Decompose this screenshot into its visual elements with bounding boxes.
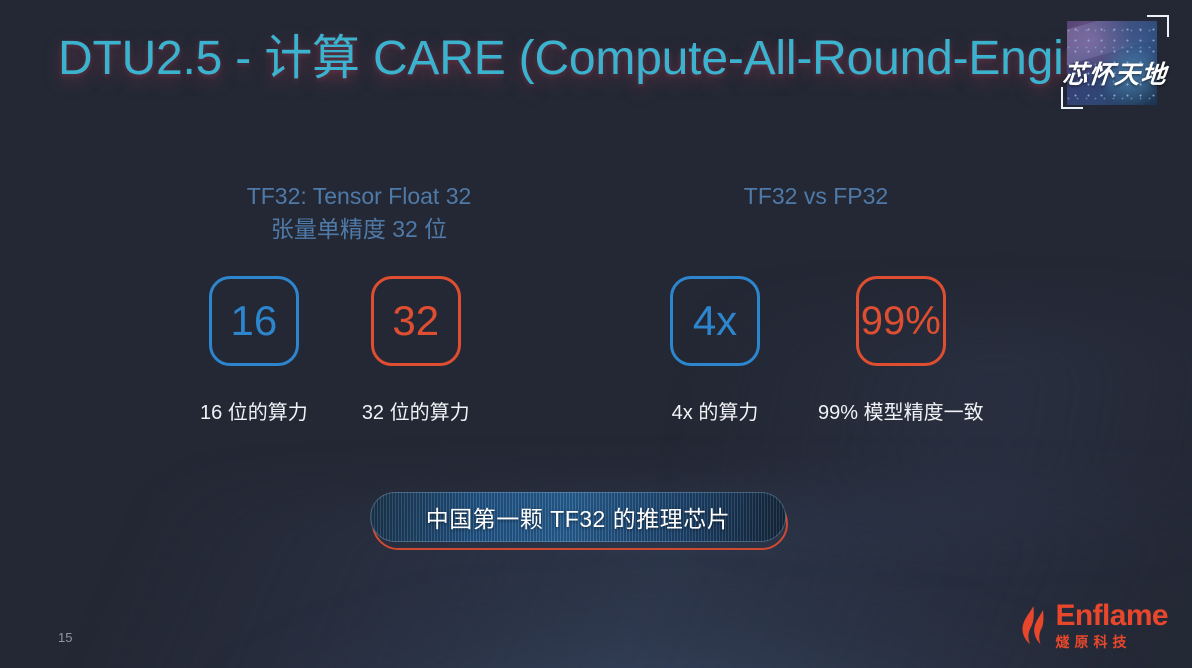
column-heading-right-line1: TF32 vs FP32 [640, 180, 992, 213]
column-heading-right: TF32 vs FP32 [640, 180, 992, 213]
metric-label-4x: 4x 的算力 [672, 396, 759, 425]
metric-box-99: 99% [856, 276, 946, 366]
metric-card-4x: 4x 4x 的算力 [670, 276, 760, 425]
column-heading-left-line2: 张量单精度 32 位 [184, 213, 534, 246]
badge-corner-top-right-icon [1147, 15, 1169, 37]
callout-pill: 中国第一颗 TF32 的推理芯片 [370, 492, 786, 542]
metric-box-16: 16 [209, 276, 299, 366]
callout-banner: 中国第一颗 TF32 的推理芯片 [370, 492, 788, 550]
metric-card-16: 16 16 位的算力 [200, 276, 308, 425]
brand-badge: 芯怀天地 [1057, 11, 1181, 115]
metric-label-99: 99% 模型精度一致 [818, 396, 984, 425]
page-title: DTU2.5 - 计算 CARE (Compute-All-Round-Engi… [58, 18, 1132, 88]
page-number: 15 [58, 630, 72, 645]
metric-group-left: 16 16 位的算力 32 32 位的算力 [200, 276, 470, 425]
badge-label: 芯怀天地 [1061, 55, 1178, 91]
metric-box-32: 32 [371, 276, 461, 366]
footer-logo-wordmark: Enflame 燧原科技 [1055, 601, 1168, 652]
metric-card-99: 99% 99% 模型精度一致 [818, 276, 984, 425]
metric-value-4x: 4x [693, 300, 737, 342]
metric-group-right: 4x 4x 的算力 99% 99% 模型精度一致 [670, 276, 984, 425]
footer-logo: Enflame 燧原科技 [1020, 601, 1168, 652]
footer-logo-name-cn: 燧原科技 [1055, 632, 1131, 652]
callout-text: 中国第一颗 TF32 的推理芯片 [426, 500, 730, 534]
flame-icon [1020, 605, 1050, 647]
footer-logo-name-en: Enflame [1055, 601, 1168, 630]
metric-value-99: 99% [861, 301, 941, 341]
metric-label-32: 32 位的算力 [362, 396, 470, 425]
background-glow-center [215, 588, 1145, 668]
metric-value-32: 32 [392, 300, 439, 342]
column-heading-left-line1: TF32: Tensor Float 32 [184, 180, 534, 213]
metric-box-4x: 4x [670, 276, 760, 366]
metric-label-16: 16 位的算力 [200, 396, 308, 425]
column-heading-left: TF32: Tensor Float 32 张量单精度 32 位 [184, 180, 534, 247]
metric-card-32: 32 32 位的算力 [362, 276, 470, 425]
slide-canvas: DTU2.5 - 计算 CARE (Compute-All-Round-Engi… [0, 0, 1192, 668]
metric-value-16: 16 [231, 300, 278, 342]
